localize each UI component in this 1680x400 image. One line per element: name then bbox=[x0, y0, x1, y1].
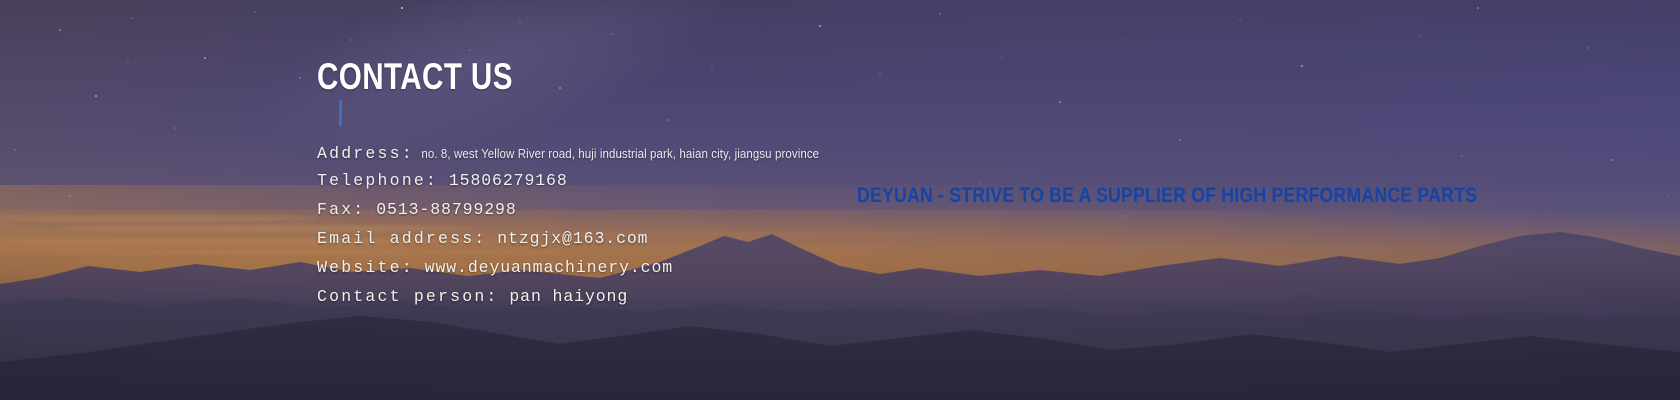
contact-banner: CONTACT US Address:no. 8, west Yellow Ri… bbox=[0, 0, 1680, 400]
list-item: Address:no. 8, west Yellow River road, h… bbox=[317, 142, 1417, 166]
website-label: Website: bbox=[317, 258, 414, 277]
company-tagline: DEYUAN - STRIVE TO BE A SUPPLIER OF HIGH… bbox=[857, 184, 1477, 208]
email-label: Email address: bbox=[317, 229, 486, 248]
fax-value: 0513-88799298 bbox=[376, 200, 516, 219]
contact-info-list: Address:no. 8, west Yellow River road, h… bbox=[317, 142, 1417, 311]
list-item: Contact person: pan haiyong bbox=[317, 282, 1417, 311]
list-item: Email address: ntzgjx@163.com bbox=[317, 224, 1417, 253]
page-title: CONTACT US bbox=[317, 57, 513, 97]
list-item: Website: www.deyuanmachinery.com bbox=[317, 253, 1417, 282]
contact-person-label: Contact person: bbox=[317, 287, 499, 306]
contact-person-value: pan haiyong bbox=[509, 287, 628, 306]
banner-content: CONTACT US Address:no. 8, west Yellow Ri… bbox=[0, 0, 1680, 400]
address-value: no. 8, west Yellow River road, huji indu… bbox=[414, 142, 819, 166]
email-value[interactable]: ntzgjx@163.com bbox=[497, 229, 648, 248]
telephone-value[interactable]: 15806279168 bbox=[449, 171, 568, 190]
fax-label: Fax: bbox=[317, 200, 365, 219]
telephone-label: Telephone: bbox=[317, 171, 438, 190]
address-label: Address: bbox=[317, 144, 414, 163]
website-value[interactable]: www.deyuanmachinery.com bbox=[425, 258, 673, 277]
title-accent-bar bbox=[339, 100, 342, 126]
